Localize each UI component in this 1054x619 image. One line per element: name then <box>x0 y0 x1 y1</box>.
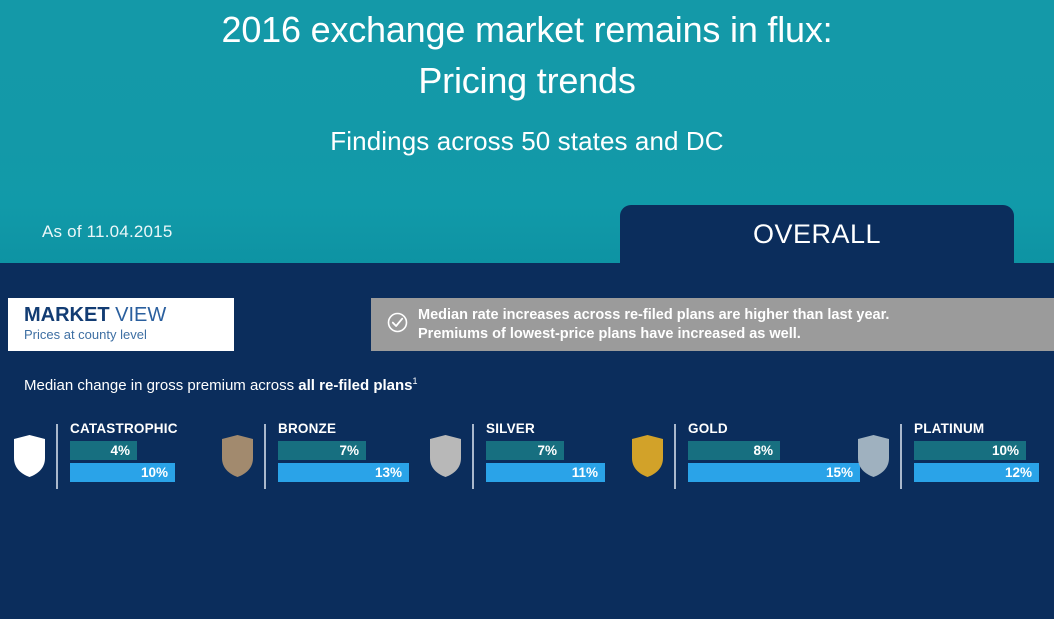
bar-2014-2015-label: 7% <box>537 443 557 458</box>
insight-banner: Median rate increases across re-filed pl… <box>371 298 1054 351</box>
tier-content: BRONZE7%13% <box>278 421 422 485</box>
tier-divider <box>56 424 58 489</box>
tier-content: PLATINUM10%12% <box>914 421 1048 485</box>
section-caption-bold: all re-filed plans <box>298 377 412 394</box>
tier-label: PLATINUM <box>914 421 1048 436</box>
bar-2015-2016-label: 11% <box>572 465 598 480</box>
tier-silver: SILVER7%11% <box>430 421 626 496</box>
bar-2014-2015-label: 4% <box>110 443 130 458</box>
tier-label: SILVER <box>486 421 626 436</box>
tier-platinum: PLATINUM10%12% <box>858 421 1048 496</box>
tab-overall[interactable]: OVERALL <box>620 205 1014 263</box>
market-view-box: MARKET VIEW Prices at county level <box>8 298 234 351</box>
tier-content: SILVER7%11% <box>486 421 626 485</box>
bar-2015-2016: 15% <box>688 463 860 482</box>
tier-label: CATASTROPHIC <box>70 421 214 436</box>
section-caption: Median change in gross premium across al… <box>24 376 418 394</box>
insight-line-2: Premiums of lowest-price plans have incr… <box>418 325 889 344</box>
bronze-shield-icon <box>222 435 253 482</box>
tier-content: GOLD8%15% <box>688 421 860 485</box>
bar-2014-2015: 10% <box>914 441 1026 460</box>
section-caption-footnote: 1 <box>413 376 418 386</box>
insight-banner-text: Median rate increases across re-filed pl… <box>418 306 889 344</box>
market-view-title: MARKET VIEW <box>24 304 234 327</box>
bar-2014-2015: 8% <box>688 441 780 460</box>
tier-content: CATASTROPHIC4%10% <box>70 421 214 485</box>
infographic-slide: 2016 exchange market remains in flux: Pr… <box>0 0 1054 619</box>
bar-2015-2016-label: 10% <box>141 465 168 480</box>
body-area: MARKET VIEW Prices at county level Media… <box>0 263 1054 619</box>
tier-catastrophic: CATASTROPHIC4%10% <box>14 421 214 496</box>
tier-divider <box>900 424 902 489</box>
check-circle-icon <box>387 312 408 338</box>
page-subtitle: Findings across 50 states and DC <box>0 126 1054 157</box>
title-line-2: Pricing trends <box>0 55 1054 106</box>
bar-2015-2016-label: 15% <box>826 465 853 480</box>
market-view-title-bold: MARKET <box>24 304 110 326</box>
section-caption-prefix: Median change in gross premium across <box>24 377 298 394</box>
page-title: 2016 exchange market remains in flux: Pr… <box>0 4 1054 106</box>
bar-2015-2016-label: 12% <box>1005 465 1032 480</box>
bar-2015-2016: 10% <box>70 463 175 482</box>
tier-divider <box>674 424 676 489</box>
platinum-shield-icon <box>858 435 889 482</box>
bar-2014-2015-label: 10% <box>992 443 1019 458</box>
as-of-date: As of 11.04.2015 <box>42 222 172 242</box>
tier-bar-group: CATASTROPHIC4%10%BRONZE7%13%SILVER7%11%G… <box>0 421 1054 496</box>
bar-2014-2015-label: 8% <box>753 443 773 458</box>
bar-2015-2016: 11% <box>486 463 605 482</box>
bar-2014-2015: 7% <box>278 441 366 460</box>
bar-2015-2016: 12% <box>914 463 1039 482</box>
market-view-title-rest: VIEW <box>110 304 167 326</box>
insight-line-1: Median rate increases across re-filed pl… <box>418 306 889 325</box>
tier-label: BRONZE <box>278 421 422 436</box>
tier-divider <box>264 424 266 489</box>
bar-2014-2015: 7% <box>486 441 564 460</box>
tier-bronze: BRONZE7%13% <box>222 421 422 496</box>
tier-label: GOLD <box>688 421 860 436</box>
market-view-subtitle: Prices at county level <box>24 327 234 343</box>
title-line-1: 2016 exchange market remains in flux: <box>0 4 1054 55</box>
bar-2015-2016-label: 13% <box>375 465 402 480</box>
bar-2014-2015-label: 7% <box>339 443 359 458</box>
header-banner: 2016 exchange market remains in flux: Pr… <box>0 0 1054 263</box>
catastrophic-shield-icon <box>14 435 45 482</box>
bar-2014-2015: 4% <box>70 441 137 460</box>
tier-gold: GOLD8%15% <box>632 421 852 496</box>
silver-shield-icon <box>430 435 461 482</box>
tier-divider <box>472 424 474 489</box>
bar-2015-2016: 13% <box>278 463 409 482</box>
tab-overall-label: OVERALL <box>753 219 881 250</box>
gold-shield-icon <box>632 435 663 482</box>
